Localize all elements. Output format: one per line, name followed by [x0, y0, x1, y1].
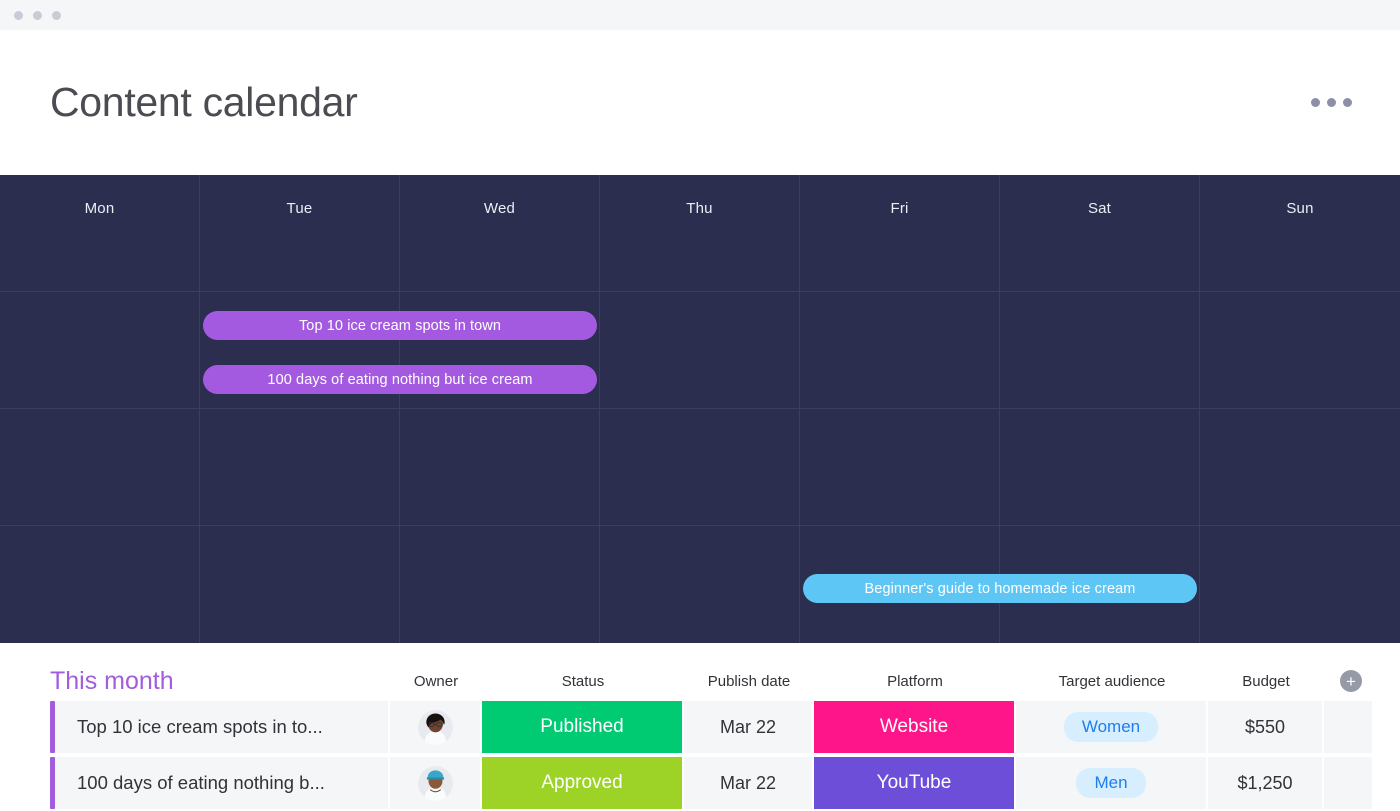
column-header-platform[interactable]: Platform — [814, 673, 1016, 690]
cell-platform[interactable]: YouTube — [814, 757, 1014, 809]
calendar-view: MonTueWedThuFriSatSun Top 10 ice cream s… — [0, 175, 1400, 643]
audience-tag[interactable]: Men — [1076, 768, 1145, 798]
column-header-owner[interactable]: Owner — [390, 673, 482, 690]
calendar-cell[interactable] — [400, 526, 600, 643]
cell-target-audience[interactable]: Women — [1016, 701, 1206, 753]
calendar-event-pill[interactable]: 100 days of eating nothing but ice cream — [203, 365, 597, 394]
calendar-cell[interactable] — [1200, 409, 1400, 526]
kebab-dot — [1311, 98, 1320, 107]
column-header-target-audience[interactable]: Target audience — [1016, 673, 1208, 690]
cell-empty[interactable] — [1324, 701, 1372, 753]
day-label: Wed — [400, 175, 599, 217]
cell-status[interactable]: Approved — [482, 757, 682, 809]
cell-empty[interactable] — [1324, 757, 1372, 809]
kebab-menu-icon[interactable] — [1311, 98, 1352, 107]
calendar-grid: MonTueWedThuFriSatSun — [0, 175, 1400, 643]
day-label: Sat — [1000, 175, 1199, 217]
calendar-day-header-wed[interactable]: Wed — [400, 175, 600, 292]
minimize-dot[interactable] — [33, 11, 42, 20]
window-chrome — [0, 0, 1400, 30]
calendar-cell[interactable] — [600, 292, 800, 409]
calendar-day-header-sun[interactable]: Sun — [1200, 175, 1400, 292]
cell-budget[interactable]: $550 — [1208, 701, 1322, 753]
calendar-day-header-tue[interactable]: Tue — [200, 175, 400, 292]
cell-platform[interactable]: Website — [814, 701, 1014, 753]
calendar-cell[interactable] — [0, 526, 200, 643]
page-title: Content calendar — [50, 79, 357, 126]
cell-publish-date[interactable]: Mar 22 — [684, 701, 812, 753]
calendar-cell[interactable] — [400, 409, 600, 526]
table-row[interactable]: Top 10 ice cream spots in to...Published… — [0, 701, 1400, 753]
calendar-cell[interactable] — [200, 526, 400, 643]
day-label: Mon — [0, 175, 199, 217]
calendar-cell[interactable] — [1200, 526, 1400, 643]
avatar-man-cap[interactable] — [418, 766, 453, 801]
calendar-cell[interactable] — [1000, 292, 1200, 409]
cell-owner[interactable] — [390, 701, 480, 753]
column-header-publish-date[interactable]: Publish date — [684, 673, 814, 690]
maximize-dot[interactable] — [52, 11, 61, 20]
audience-tag[interactable]: Women — [1064, 712, 1158, 742]
calendar-cell[interactable] — [600, 526, 800, 643]
calendar-day-header-sat[interactable]: Sat — [1000, 175, 1200, 292]
board-section: This month Owner Status Publish date Pla… — [0, 643, 1400, 809]
board-group-header: This month Owner Status Publish date Pla… — [0, 661, 1400, 701]
group-title[interactable]: This month — [50, 667, 390, 696]
calendar-cell[interactable] — [0, 292, 200, 409]
calendar-cell[interactable] — [1000, 409, 1200, 526]
kebab-dot — [1343, 98, 1352, 107]
calendar-cell[interactable] — [200, 409, 400, 526]
calendar-event-pill[interactable]: Top 10 ice cream spots in town — [203, 311, 597, 340]
table-row[interactable]: 100 days of eating nothing b...ApprovedM… — [0, 757, 1400, 809]
day-label: Thu — [600, 175, 799, 217]
cell-status[interactable]: Published — [482, 701, 682, 753]
page-header: Content calendar — [0, 30, 1400, 175]
cell-publish-date[interactable]: Mar 22 — [684, 757, 812, 809]
kebab-dot — [1327, 98, 1336, 107]
close-dot[interactable] — [14, 11, 23, 20]
cell-item-name[interactable]: 100 days of eating nothing b... — [55, 757, 388, 809]
cell-item-name[interactable]: Top 10 ice cream spots in to... — [55, 701, 388, 753]
column-header-budget[interactable]: Budget — [1208, 673, 1324, 690]
calendar-cell[interactable] — [800, 292, 1000, 409]
calendar-day-header-thu[interactable]: Thu — [600, 175, 800, 292]
calendar-cell[interactable] — [600, 409, 800, 526]
calendar-event-pill[interactable]: Beginner's guide to homemade ice cream — [803, 574, 1197, 603]
cell-owner[interactable] — [390, 757, 480, 809]
cell-budget[interactable]: $1,250 — [1208, 757, 1322, 809]
calendar-cell[interactable] — [1200, 292, 1400, 409]
avatar-woman-glasses[interactable] — [418, 710, 453, 745]
cell-target-audience[interactable]: Men — [1016, 757, 1206, 809]
day-label: Tue — [200, 175, 399, 217]
calendar-day-header-mon[interactable]: Mon — [0, 175, 200, 292]
column-header-status[interactable]: Status — [482, 673, 684, 690]
day-label: Sun — [1200, 175, 1400, 217]
day-label: Fri — [800, 175, 999, 217]
calendar-day-header-fri[interactable]: Fri — [800, 175, 1000, 292]
board-rows: Top 10 ice cream spots in to...Published… — [0, 701, 1400, 809]
calendar-cell[interactable] — [800, 409, 1000, 526]
plus-icon[interactable]: + — [1340, 670, 1362, 692]
calendar-cell[interactable] — [0, 409, 200, 526]
